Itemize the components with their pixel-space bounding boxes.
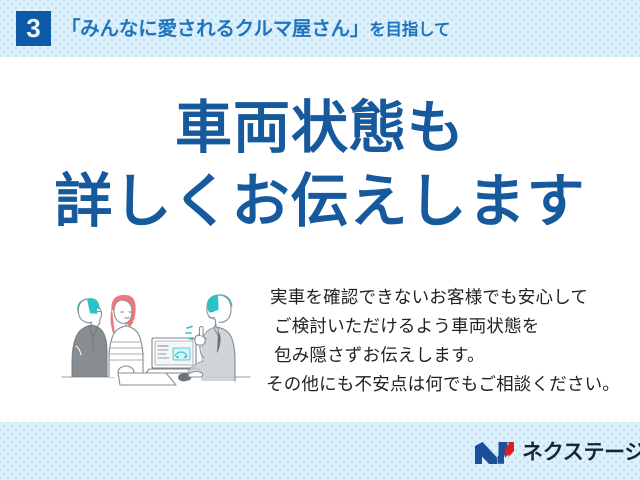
brand-name: ネクステージ xyxy=(522,440,640,466)
headline-line-1: 車両状態も xyxy=(0,92,640,164)
header-title-main: 「みんなに愛されるクルマ屋さん」 xyxy=(61,18,369,40)
advertisement-banner: 3 「みんなに愛されるクルマ屋さん」を目指して 車両状態も 詳しくお伝えします xyxy=(0,0,640,480)
headline: 車両状態も 詳しくお伝えします xyxy=(0,92,640,240)
body-copy-line-3: 包み隠さずお伝えします。 xyxy=(266,341,610,370)
headline-line-2: 詳しくお伝えします xyxy=(0,164,640,240)
body-copy: 実車を確認できないお客様でも安心して ご検討いただけるよう車両状態を 包み隠さず… xyxy=(266,283,610,399)
nextage-n-mark-icon xyxy=(473,440,515,466)
header-title: 「みんなに愛されるクルマ屋さん」を目指して xyxy=(61,15,450,43)
body-copy-line-1: 実車を確認できないお客様でも安心して xyxy=(266,283,610,312)
illustration-svg xyxy=(56,276,256,392)
body-copy-line-4: その他にも不安点は何でもご相談ください。 xyxy=(266,370,610,399)
brand-logo: ネクステージ xyxy=(473,438,640,468)
step-number-badge: 3 xyxy=(16,11,51,46)
header-title-tail: を目指して xyxy=(369,21,450,39)
customer-consultation-illustration xyxy=(56,276,256,392)
body-copy-line-2: ご検討いただけるよう車両状態を xyxy=(266,312,610,341)
